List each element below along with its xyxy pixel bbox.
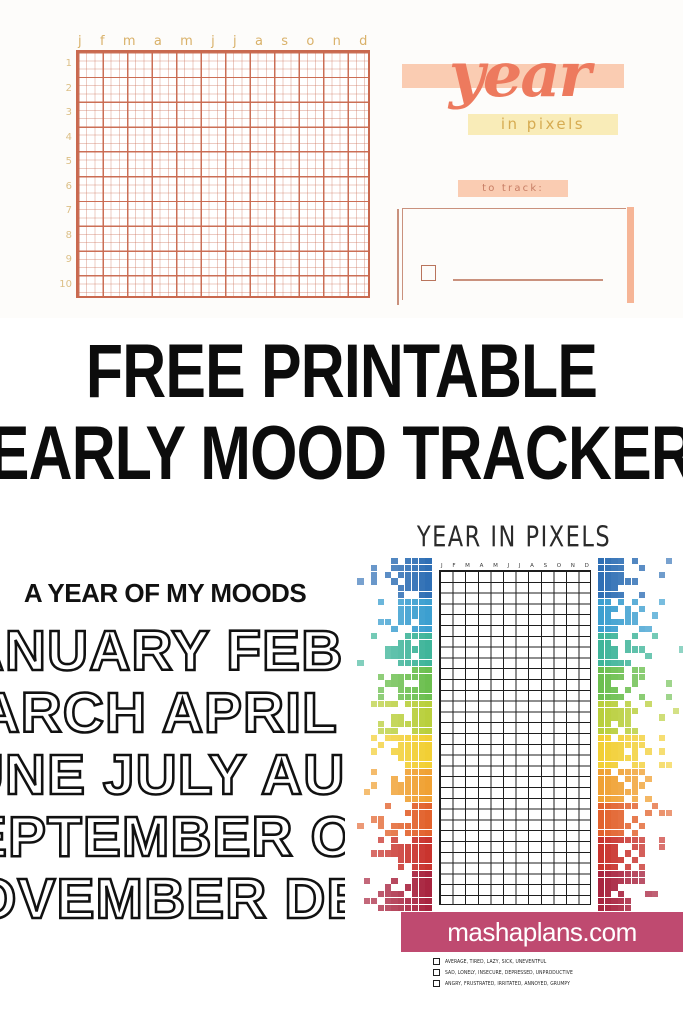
confetti-pixel [598, 905, 604, 911]
confetti-pixel [378, 721, 384, 727]
confetti-pixel [398, 748, 404, 754]
confetti-pixel [378, 701, 384, 707]
confetti-pixel [632, 633, 638, 639]
month-letter: m [180, 35, 193, 48]
confetti-pixel [425, 735, 431, 741]
confetti-pixel [659, 714, 665, 720]
confetti-pixel [605, 653, 611, 659]
confetti-pixel [605, 619, 611, 625]
legend-checkbox[interactable] [433, 980, 440, 987]
confetti-pixel [611, 748, 617, 754]
confetti-pixel [425, 884, 431, 890]
confetti-pixel [419, 653, 425, 659]
confetti-pixel [398, 755, 404, 761]
confetti-pixel [425, 782, 431, 788]
confetti-pixel [625, 905, 631, 911]
confetti-pixel [639, 837, 645, 843]
confetti-pixel [398, 742, 404, 748]
confetti-pixel [412, 578, 418, 584]
confetti-pixel [625, 850, 631, 856]
confetti-pixel [425, 762, 431, 768]
confetti-pixel [598, 782, 604, 788]
confetti-pixel [598, 667, 604, 673]
confetti-pixel [425, 578, 431, 584]
confetti-pixel [605, 660, 611, 666]
confetti-pixel [611, 633, 617, 639]
confetti-pixel [419, 850, 425, 856]
confetti-pixel [611, 850, 617, 856]
confetti-pixel [391, 905, 397, 911]
confetti-pixel [364, 789, 370, 795]
confetti-pixel [391, 782, 397, 788]
confetti-pixel [605, 606, 611, 612]
confetti-pixel [385, 830, 391, 836]
confetti-pixel [425, 905, 431, 911]
confetti-pixel [605, 599, 611, 605]
confetti-pixel [645, 776, 651, 782]
confetti-pixel [598, 599, 604, 605]
confetti-pixel [398, 612, 404, 618]
confetti-pixel [398, 823, 404, 829]
month-word-row: JUNE JULY AUGUST [0, 744, 345, 806]
confetti-pixel [419, 606, 425, 612]
confetti-pixel [378, 599, 384, 605]
confetti-pixel [371, 633, 377, 639]
confetti-pixel [632, 755, 638, 761]
confetti-pixel [405, 660, 411, 666]
confetti-pixel [391, 891, 397, 897]
month-letter: a [255, 35, 263, 48]
confetti-pixel [391, 558, 397, 564]
confetti-pixel [598, 850, 604, 856]
confetti-pixel [398, 619, 404, 625]
confetti-pixel [618, 714, 624, 720]
confetti-pixel [398, 599, 404, 605]
confetti-pixel [605, 680, 611, 686]
confetti-pixel [611, 558, 617, 564]
bottom-left-tracker-preview: A YEAR OF MY MOODS JANUARY FEBRUARY MARC… [0, 508, 345, 1024]
confetti-pixel [632, 735, 638, 741]
confetti-pixel [611, 755, 617, 761]
confetti-pixel [412, 857, 418, 863]
confetti-pixel [419, 898, 425, 904]
confetti-pixel [598, 728, 604, 734]
legend-checkbox[interactable] [433, 958, 440, 965]
top-tracker-grid [76, 50, 370, 298]
confetti-pixel [405, 606, 411, 612]
confetti-pixel [605, 748, 611, 754]
confetti-pixel [618, 674, 624, 680]
confetti-pixel [652, 891, 658, 897]
confetti-pixel [405, 905, 411, 911]
confetti-pixel [405, 674, 411, 680]
confetti-pixel [639, 850, 645, 856]
row-number: 5 [66, 157, 72, 167]
confetti-pixel [639, 742, 645, 748]
confetti-pixel [391, 646, 397, 652]
confetti-pixel [385, 850, 391, 856]
confetti-pixel [425, 640, 431, 646]
confetti-pixel [391, 714, 397, 720]
confetti-pixel [605, 898, 611, 904]
confetti-pixel [412, 721, 418, 727]
confetti-pixel [632, 742, 638, 748]
confetti-pixel [605, 558, 611, 564]
confetti-pixel [405, 884, 411, 890]
top-tracker-row-numbers: 1 2 3 4 5 6 7 8 9 10 [48, 52, 72, 297]
confetti-pixel [419, 857, 425, 863]
confetti-pixel [666, 558, 672, 564]
month-word-row: MARCH APRIL MAY [0, 682, 345, 744]
row-number: 2 [66, 84, 72, 94]
month-word-row: JANUARY FEBRUARY [0, 620, 345, 682]
confetti-pixel [391, 823, 397, 829]
confetti-pixel [391, 878, 397, 884]
confetti-pixel [598, 816, 604, 822]
confetti-pixel [419, 803, 425, 809]
confetti-pixel [398, 694, 404, 700]
confetti-pixel [419, 694, 425, 700]
confetti-pixel [412, 674, 418, 680]
confetti-pixel [412, 810, 418, 816]
confetti-pixel [598, 898, 604, 904]
confetti-pixel [611, 762, 617, 768]
confetti-pixel [605, 701, 611, 707]
confetti-pixel [611, 878, 617, 884]
confetti-pixel [618, 667, 624, 673]
confetti-pixel [598, 626, 604, 632]
confetti-pixel [425, 816, 431, 822]
confetti-pixel [598, 789, 604, 795]
confetti-pixel [611, 585, 617, 591]
confetti-pixel [419, 844, 425, 850]
month-letter: f [100, 35, 105, 48]
confetti-pixel [425, 830, 431, 836]
confetti-pixel [611, 667, 617, 673]
confetti-pixel [618, 891, 624, 897]
confetti-pixel [645, 748, 651, 754]
confetti-pixel [419, 558, 425, 564]
confetti-pixel [391, 565, 397, 571]
confetti-pixel [598, 701, 604, 707]
confetti-pixel [425, 612, 431, 618]
confetti-pixel [679, 646, 683, 652]
confetti-pixel [625, 701, 631, 707]
confetti-pixel [605, 905, 611, 911]
confetti-pixel [412, 742, 418, 748]
confetti-pixel [398, 606, 404, 612]
confetti-pixel [611, 898, 617, 904]
confetti-pixel [625, 714, 631, 720]
confetti-pixel [405, 796, 411, 802]
confetti-pixel [412, 708, 418, 714]
confetti-pixel [391, 626, 397, 632]
confetti-pixel [419, 878, 425, 884]
confetti-pixel [412, 850, 418, 856]
confetti-pixel [605, 837, 611, 843]
confetti-pixel [632, 857, 638, 863]
confetti-pixel [605, 742, 611, 748]
confetti-pixel [598, 878, 604, 884]
confetti-pixel [666, 694, 672, 700]
confetti-pixel [419, 884, 425, 890]
confetti-pixel [611, 823, 617, 829]
confetti-pixel [611, 619, 617, 625]
legend-item: AVERAGE, TIRED, LAZY, SICK, UNEVENTFUL [433, 956, 663, 967]
legend-item: ANGRY, FRUSTRATED, IRRITATED, ANNOYED, G… [433, 978, 663, 989]
confetti-pixel [605, 674, 611, 680]
confetti-pixel [598, 585, 604, 591]
confetti-pixel [405, 844, 411, 850]
confetti-pixel [625, 708, 631, 714]
confetti-pixel [405, 810, 411, 816]
confetti-pixel [625, 606, 631, 612]
confetti-pixel [425, 572, 431, 578]
pin-title-line-1: FREE PRINTABLE [86, 331, 597, 413]
confetti-pixel [618, 578, 624, 584]
confetti-pixel [419, 674, 425, 680]
confetti-pixel [598, 708, 604, 714]
confetti-pixel [598, 776, 604, 782]
confetti-pixel [618, 878, 624, 884]
confetti-pixel [419, 748, 425, 754]
confetti-pixel [598, 565, 604, 571]
confetti-pixel [412, 565, 418, 571]
confetti-pixel [605, 830, 611, 836]
to-track-checkbox[interactable] [421, 265, 436, 281]
logo-subtitle: in pixels [468, 115, 618, 134]
to-track-label: to track: [458, 180, 568, 197]
row-number: 8 [66, 231, 72, 241]
confetti-pixel [625, 660, 631, 666]
confetti-pixel [598, 837, 604, 843]
confetti-pixel [391, 830, 397, 836]
confetti-pixel [605, 803, 611, 809]
confetti-pixel [659, 748, 665, 754]
confetti-pixel [398, 714, 404, 720]
confetti-pixel [625, 578, 631, 584]
confetti-pixel [419, 585, 425, 591]
confetti-pixel [598, 748, 604, 754]
confetti-pixel [405, 748, 411, 754]
confetti-pixel [412, 728, 418, 734]
confetti-pixel [598, 864, 604, 870]
confetti-pixel [611, 810, 617, 816]
confetti-pixel [398, 735, 404, 741]
confetti-pixel [659, 837, 665, 843]
confetti-pixel [405, 633, 411, 639]
confetti-pixel [652, 633, 658, 639]
confetti-pixel [639, 646, 645, 652]
confetti-pixel [412, 776, 418, 782]
confetti-pixel [611, 884, 617, 890]
confetti-pixel [419, 816, 425, 822]
confetti-pixel [419, 646, 425, 652]
confetti-pixel [425, 626, 431, 632]
confetti-pixel [425, 755, 431, 761]
year-in-pixels-title: YEAR IN PIXELS [345, 520, 683, 553]
confetti-pixel [605, 871, 611, 877]
confetti-pixel [412, 633, 418, 639]
confetti-pixel [385, 898, 391, 904]
confetti-pixel [412, 701, 418, 707]
confetti-pixel [425, 864, 431, 870]
confetti-pixel [425, 667, 431, 673]
month-word-outline-list: JANUARY FEBRUARY MARCH APRIL MAY JUNE JU… [0, 620, 345, 930]
confetti-pixel [598, 653, 604, 659]
confetti-pixel [412, 905, 418, 911]
confetti-pixel [412, 878, 418, 884]
pinterest-pin: j f m a m j j a s o n d 1 2 3 4 5 6 7 8 … [0, 0, 683, 1024]
to-track-box-left-rule [397, 209, 399, 305]
confetti-pixel [425, 742, 431, 748]
confetti-pixel [419, 660, 425, 666]
confetti-pixel [425, 769, 431, 775]
confetti-pixel [419, 680, 425, 686]
confetti-pixel [405, 735, 411, 741]
confetti-pixel [378, 674, 384, 680]
confetti-pixel [419, 565, 425, 571]
confetti-pixel [625, 803, 631, 809]
confetti-pixel [419, 714, 425, 720]
confetti-pixel [412, 599, 418, 605]
confetti-pixel [371, 782, 377, 788]
confetti-pixel [618, 871, 624, 877]
confetti-pixel [632, 830, 638, 836]
confetti-pixel [398, 687, 404, 693]
confetti-pixel [419, 735, 425, 741]
confetti-pixel [632, 769, 638, 775]
confetti-pixel [598, 619, 604, 625]
confetti-pixel [625, 898, 631, 904]
confetti-pixel [419, 823, 425, 829]
confetti-pixel [632, 680, 638, 686]
confetti-pixel [598, 633, 604, 639]
to-track-write-line [453, 279, 603, 281]
confetti-pixel [419, 708, 425, 714]
confetti-pixel [378, 694, 384, 700]
confetti-pixel [611, 606, 617, 612]
row-number: 6 [66, 182, 72, 192]
confetti-pixel [425, 687, 431, 693]
confetti-pixel [625, 646, 631, 652]
confetti-pixel [618, 837, 624, 843]
confetti-pixel [364, 878, 370, 884]
confetti-pixel [419, 810, 425, 816]
confetti-pixel [412, 572, 418, 578]
confetti-pixel [605, 816, 611, 822]
confetti-pixel [598, 810, 604, 816]
confetti-pixel [425, 728, 431, 734]
confetti-pixel [405, 694, 411, 700]
confetti-pixel [385, 728, 391, 734]
pin-title-line-2: YEARLY MOOD TRACKERS [0, 413, 683, 495]
confetti-pixel [632, 674, 638, 680]
confetti-pixel [419, 578, 425, 584]
confetti-pixel [625, 687, 631, 693]
confetti-pixel [605, 565, 611, 571]
confetti-pixel [357, 578, 363, 584]
confetti-pixel [412, 735, 418, 741]
confetti-pixel [666, 810, 672, 816]
confetti-pixel [605, 776, 611, 782]
confetti-pixel [598, 796, 604, 802]
confetti-pixel [598, 871, 604, 877]
confetti-pixel [385, 572, 391, 578]
a-year-of-my-moods-heading: A YEAR OF MY MOODS [0, 578, 330, 609]
confetti-pixel [611, 565, 617, 571]
confetti-pixel [639, 871, 645, 877]
confetti-pixel [391, 789, 397, 795]
confetti-pixel [405, 776, 411, 782]
confetti-pixel [405, 558, 411, 564]
confetti-pixel [598, 857, 604, 863]
confetti-pixel [398, 640, 404, 646]
confetti-pixel [605, 850, 611, 856]
confetti-pixel [391, 674, 397, 680]
legend-checkbox[interactable] [433, 969, 440, 976]
confetti-pixel [398, 844, 404, 850]
confetti-pixel [618, 905, 624, 911]
row-number: 1 [66, 59, 72, 69]
confetti-pixel [639, 762, 645, 768]
confetti-pixel [405, 701, 411, 707]
confetti-pixel [618, 898, 624, 904]
confetti-pixel [632, 816, 638, 822]
confetti-pixel [625, 837, 631, 843]
month-letter: m [123, 35, 136, 48]
confetti-pixel [425, 646, 431, 652]
confetti-pixel [385, 653, 391, 659]
confetti-pixel [412, 796, 418, 802]
top-tracker-preview: j f m a m j j a s o n d 1 2 3 4 5 6 7 8 … [0, 0, 683, 318]
confetti-pixel [378, 687, 384, 693]
year-in-pixels-grid [439, 570, 591, 905]
confetti-pixel [618, 558, 624, 564]
confetti-pixel [398, 789, 404, 795]
confetti-pixel [412, 823, 418, 829]
confetti-pixel [611, 592, 617, 598]
confetti-pixel [618, 742, 624, 748]
confetti-pixel [625, 878, 631, 884]
confetti-pixel [632, 708, 638, 714]
confetti-pixel [605, 735, 611, 741]
confetti-pixel [659, 844, 665, 850]
watermark-text: mashaplans.com [401, 912, 683, 952]
confetti-pixel [632, 667, 638, 673]
confetti-pixel [405, 850, 411, 856]
confetti-pixel [611, 646, 617, 652]
confetti-pixel [666, 762, 672, 768]
confetti-pixel [598, 735, 604, 741]
confetti-pixel [605, 694, 611, 700]
confetti-pixel [405, 653, 411, 659]
confetti-pixel [625, 769, 631, 775]
confetti-pixel [598, 687, 604, 693]
confetti-pixel [405, 830, 411, 836]
confetti-pixel [398, 680, 404, 686]
confetti-pixel [632, 619, 638, 625]
confetti-pixel [605, 721, 611, 727]
confetti-pixel [412, 844, 418, 850]
confetti-pixel [391, 850, 397, 856]
confetti-pixel [419, 633, 425, 639]
confetti-pixel [659, 572, 665, 578]
confetti-pixel [598, 612, 604, 618]
confetti-pixel [618, 592, 624, 598]
confetti-pixel [639, 592, 645, 598]
confetti-pixel [405, 646, 411, 652]
